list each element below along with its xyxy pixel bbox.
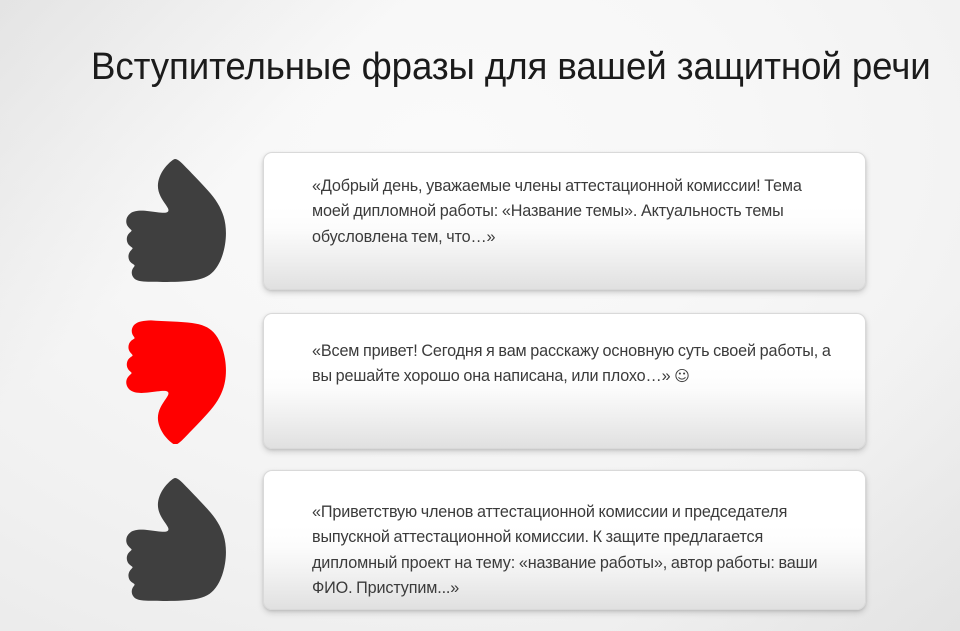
smiley-face-icon: ☺ (674, 367, 690, 385)
phrase-card: «Приветствую членов аттестационной комис… (263, 470, 866, 610)
phrase-row: «Всем привет! Сегодня я вам расскажу осн… (0, 313, 960, 449)
phrase-text-body: «Всем привет! Сегодня я вам расскажу осн… (312, 342, 831, 385)
slide-canvas: Вступительные фразы для вашей защитной р… (0, 0, 960, 631)
phrase-text: «Всем привет! Сегодня я вам расскажу осн… (312, 339, 839, 390)
page-title: Вступительные фразы для вашей защитной р… (91, 42, 863, 94)
phrase-text: «Приветствую членов аттестационной комис… (312, 500, 839, 602)
thumbs-up-icon (116, 470, 236, 610)
phrase-card: «Добрый день, уважаемые члены аттестацио… (263, 152, 866, 290)
phrase-row: «Добрый день, уважаемые члены аттестацио… (0, 152, 960, 290)
phrase-text: «Добрый день, уважаемые члены аттестацио… (312, 174, 839, 250)
thumbs-down-icon (116, 313, 236, 449)
phrase-row: «Приветствую членов аттестационной комис… (0, 470, 960, 610)
thumbs-up-icon (116, 152, 236, 290)
phrase-card: «Всем привет! Сегодня я вам расскажу осн… (263, 313, 866, 449)
